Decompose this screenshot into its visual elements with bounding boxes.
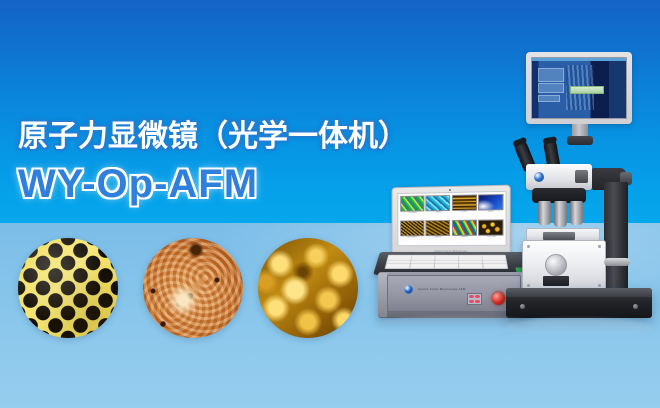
thumbnail-caption: 原子台阶 xyxy=(461,211,467,215)
key[interactable] xyxy=(385,266,393,268)
afm-optical-microscope xyxy=(500,52,660,328)
key[interactable] xyxy=(491,266,499,268)
key[interactable] xyxy=(427,261,435,263)
thumbnail-item: 高分辨纳米颗粒 xyxy=(400,220,424,243)
monitor-stand-hinge xyxy=(567,136,593,145)
key[interactable] xyxy=(426,266,434,268)
monitor-housing xyxy=(526,52,632,124)
key[interactable] xyxy=(434,266,442,268)
key[interactable] xyxy=(451,266,459,268)
key[interactable] xyxy=(395,261,403,263)
webcam-icon xyxy=(449,188,451,190)
screw-icon xyxy=(527,284,530,287)
software-panel xyxy=(538,83,564,93)
sample-image-calibration-grating xyxy=(18,238,118,338)
software-panel xyxy=(538,95,561,102)
controller-foot xyxy=(388,317,401,318)
key[interactable] xyxy=(491,261,499,263)
brand-mark-icon xyxy=(534,172,544,182)
thumbnail-image xyxy=(426,195,450,211)
key[interactable] xyxy=(467,266,475,268)
screw-icon xyxy=(633,304,638,309)
granite-base-top-surface xyxy=(506,288,652,297)
key[interactable] xyxy=(483,261,491,263)
product-title-cn: 原子力显微镜（光学一体机） xyxy=(18,118,438,156)
key[interactable] xyxy=(394,266,402,268)
scanner-nameplate xyxy=(543,276,569,286)
microscope-column xyxy=(604,182,628,294)
product-model-name: WY-Op-AFM xyxy=(18,162,438,206)
thumbnail-caption: 粗糙度分析 xyxy=(434,236,441,240)
scanner-focus-dial[interactable] xyxy=(545,254,567,276)
microscope-head-block xyxy=(526,164,592,190)
screw-icon xyxy=(520,304,525,309)
afm-product-banner: 原子力显微镜（光学一体机） WY-Op-AFM 表面形貌图像 相位成像 原子台阶 xyxy=(0,0,660,408)
key[interactable] xyxy=(403,261,411,263)
laptop-lid: 表面形貌图像 相位成像 原子台阶 三维形貌 高分辨纳米颗粒 xyxy=(392,185,511,256)
key[interactable] xyxy=(483,266,491,268)
key[interactable] xyxy=(411,261,419,263)
controller-left-bezel xyxy=(378,273,387,317)
sample-image-copper-spiral xyxy=(143,238,243,338)
headline-block: 原子力显微镜（光学一体机） WY-Op-AFM xyxy=(18,118,438,206)
controller-brand-logo xyxy=(404,285,413,294)
key[interactable] xyxy=(418,266,426,268)
port-connector[interactable] xyxy=(469,295,474,298)
objective-lens xyxy=(570,201,583,225)
key[interactable] xyxy=(443,266,451,268)
controller-port-block[interactable] xyxy=(467,293,482,305)
thumbnail-caption: 力曲线成像 xyxy=(461,236,468,240)
stage-translation-rod[interactable] xyxy=(604,258,630,266)
eyepiece-cap xyxy=(512,137,527,148)
key[interactable] xyxy=(467,261,474,263)
key[interactable] xyxy=(419,261,427,263)
key[interactable] xyxy=(443,261,450,263)
thumbnail-item: 表面形貌图像 xyxy=(400,196,424,219)
thumbnail-item: 力曲线成像 xyxy=(452,219,477,243)
key[interactable] xyxy=(475,266,483,268)
laptop-keyboard[interactable] xyxy=(384,255,508,269)
monitor-screen[interactable] xyxy=(531,57,627,119)
controller-model-label: Atomic Force Microscope AFM xyxy=(418,287,466,291)
thumbnail-caption: 三维形貌 xyxy=(488,211,494,215)
thumbnail-caption: 表面形貌图像 xyxy=(408,212,416,216)
screw-icon xyxy=(598,245,601,248)
thumbnail-item: 粗糙度分析 xyxy=(426,220,450,243)
key[interactable] xyxy=(451,261,458,263)
key[interactable] xyxy=(459,266,467,268)
laptop-screen-thumbnail-grid: 表面形貌图像 相位成像 原子台阶 三维形貌 高分辨纳米颗粒 xyxy=(397,191,506,246)
head-adjustment-knob[interactable] xyxy=(575,170,588,183)
eyepiece-cap xyxy=(542,136,557,144)
software-panel xyxy=(538,68,564,82)
thumbnail-image xyxy=(400,196,424,212)
port-connector[interactable] xyxy=(475,295,480,298)
afm-scanner-head xyxy=(522,240,606,292)
thumbnail-caption: 高分辨纳米颗粒 xyxy=(407,236,417,240)
key[interactable] xyxy=(410,266,418,268)
objective-lens xyxy=(554,201,567,227)
thumbnail-caption: 生物分子成像 xyxy=(486,236,495,240)
sample-image-gold-nanograin xyxy=(258,238,358,338)
thumbnail-image xyxy=(452,194,477,211)
thumbnail-image xyxy=(400,220,424,236)
brand-mark-icon xyxy=(404,285,413,294)
key[interactable] xyxy=(402,266,410,268)
objective-lens xyxy=(538,201,551,225)
granite-anti-vibration-base xyxy=(506,288,652,318)
thumbnail-caption: 相位成像 xyxy=(435,211,441,215)
key[interactable] xyxy=(387,261,395,263)
screw-icon xyxy=(598,284,601,287)
screw-icon xyxy=(527,245,530,248)
thumbnail-image xyxy=(426,220,450,236)
key[interactable] xyxy=(475,261,483,263)
thumbnail-image xyxy=(452,219,477,235)
thumbnail-item: 相位成像 xyxy=(426,195,450,219)
key[interactable] xyxy=(459,261,466,263)
port-connector[interactable] xyxy=(469,300,474,303)
software-status-bar xyxy=(570,86,604,93)
thumbnail-item: 原子台阶 xyxy=(452,194,477,218)
key[interactable] xyxy=(435,261,443,263)
port-connector[interactable] xyxy=(475,300,480,303)
scanner-cantilever-slot xyxy=(543,232,575,240)
